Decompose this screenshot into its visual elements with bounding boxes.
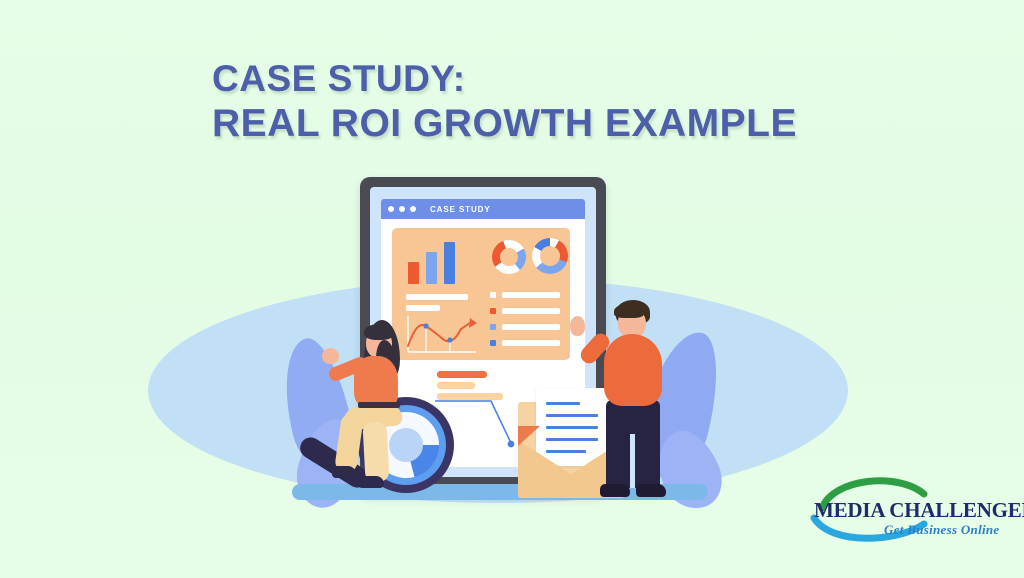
bar-series-1 (408, 262, 419, 284)
man-torso (604, 334, 662, 406)
list-item-bar-4 (502, 340, 560, 346)
donut-chart-right-hole (540, 246, 560, 266)
envelope-flap-tip (518, 426, 540, 446)
text-bar-2 (406, 305, 440, 311)
woman-shoe-right (358, 476, 384, 488)
brand-logo[interactable]: MEDIA CHALLENGERS Get Business Online (806, 472, 1020, 546)
window-dot-maximize-icon[interactable] (410, 206, 416, 212)
list-item-bar-1 (502, 292, 560, 298)
woman-belt (358, 402, 400, 408)
browser-title-bar: CASE STUDY (381, 199, 585, 219)
content-bar-1 (437, 371, 487, 378)
page-title: CASE STUDY: REAL ROI GROWTH EXAMPLE (212, 57, 812, 147)
list-bullet-3 (490, 324, 496, 330)
window-dot-close-icon[interactable] (388, 206, 394, 212)
letter-line-1 (546, 402, 580, 405)
title-line-1: CASE STUDY: (212, 57, 812, 101)
man-shoe-left (600, 484, 630, 497)
list-item-bar-3 (502, 324, 560, 330)
man-character (584, 300, 694, 506)
man-shoe-right (636, 484, 666, 497)
man-hand (570, 316, 585, 336)
mini-bar-chart (408, 242, 462, 284)
letter-line-5 (546, 450, 586, 453)
woman-shoe-left (332, 466, 356, 478)
woman-second-leg (362, 421, 389, 482)
logo-name: MEDIA CHALLENGERS (814, 498, 1018, 523)
case-study-banner: CASE STUDY (0, 0, 1024, 578)
list-item-bar-2 (502, 308, 560, 314)
list-bullet-2 (490, 308, 496, 314)
window-dot-minimize-icon[interactable] (399, 206, 405, 212)
woman-lower-leg (334, 413, 364, 473)
woman-character (318, 318, 438, 488)
logo-tagline: Get Business Online (884, 522, 1000, 538)
man-leg-gap (630, 434, 635, 488)
text-bar-1 (406, 294, 468, 300)
woman-hand (322, 348, 339, 364)
woman-bangs (364, 324, 394, 340)
content-bar-2 (437, 382, 475, 389)
bar-series-3 (444, 242, 455, 284)
list-bullet-4 (490, 340, 496, 346)
browser-title-text: CASE STUDY (430, 205, 491, 214)
bar-series-2 (426, 252, 437, 284)
donut-chart-left-hole (500, 248, 518, 266)
title-line-2: REAL ROI GROWTH EXAMPLE (212, 101, 812, 147)
list-bullet-1 (490, 292, 496, 298)
man-hair-front (614, 304, 644, 318)
